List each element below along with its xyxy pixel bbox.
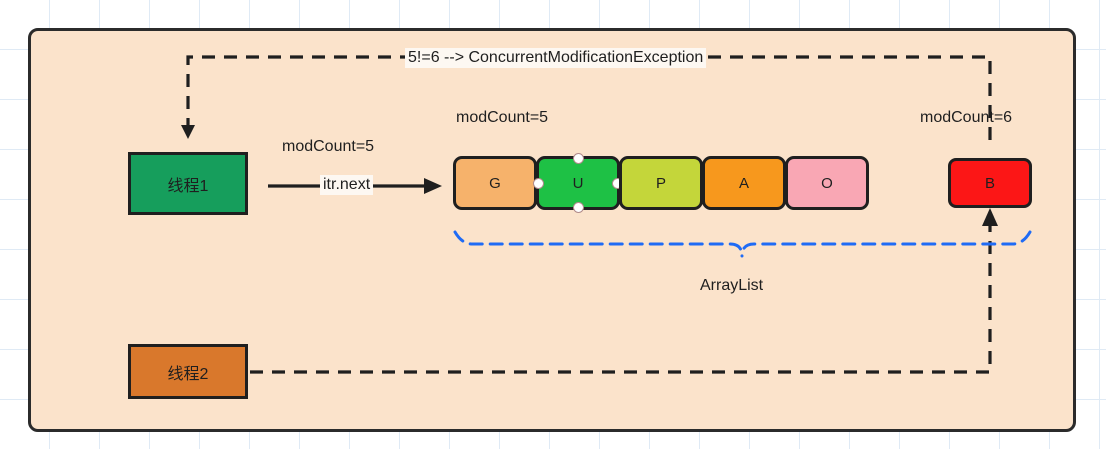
modcount-b-label: modCount=6: [920, 109, 1012, 127]
thread1-node[interactable]: 线程1: [128, 152, 248, 215]
modifier-node-label: B: [985, 175, 995, 192]
array-cell-value: U: [573, 175, 584, 192]
thread2-node[interactable]: 线程2: [128, 344, 248, 399]
modifier-node-b[interactable]: B: [948, 158, 1032, 208]
arraylist-cells: G U P A O: [453, 156, 868, 210]
selection-handle-left-icon[interactable]: [533, 178, 544, 189]
array-cell[interactable]: A: [702, 156, 786, 210]
array-cell[interactable]: G: [453, 156, 537, 210]
modcount-array-label: modCount=5: [456, 109, 548, 127]
array-cell-value: P: [656, 175, 666, 192]
selection-handle-bottom-icon[interactable]: [573, 202, 584, 213]
array-cell[interactable]: P: [619, 156, 703, 210]
array-cell-value: G: [489, 175, 501, 192]
array-cell-value: A: [739, 175, 749, 192]
array-cell-value: O: [821, 175, 833, 192]
selection-handle-top-icon[interactable]: [573, 153, 584, 164]
array-cell-selected[interactable]: U: [536, 156, 620, 210]
modcount-thread1-label: modCount=5: [282, 138, 374, 156]
array-cell[interactable]: O: [785, 156, 869, 210]
thread2-label: 线程2: [168, 360, 209, 384]
exception-label: 5!=6 --> ConcurrentModificationException: [405, 48, 706, 68]
arraylist-label: ArrayList: [700, 277, 763, 295]
itr-next-label: itr.next: [320, 175, 373, 195]
diagram-canvas: 线程1 线程2 B G U P A O 5!=6 --> ConcurrentM…: [0, 0, 1106, 449]
thread1-label: 线程1: [168, 172, 209, 196]
